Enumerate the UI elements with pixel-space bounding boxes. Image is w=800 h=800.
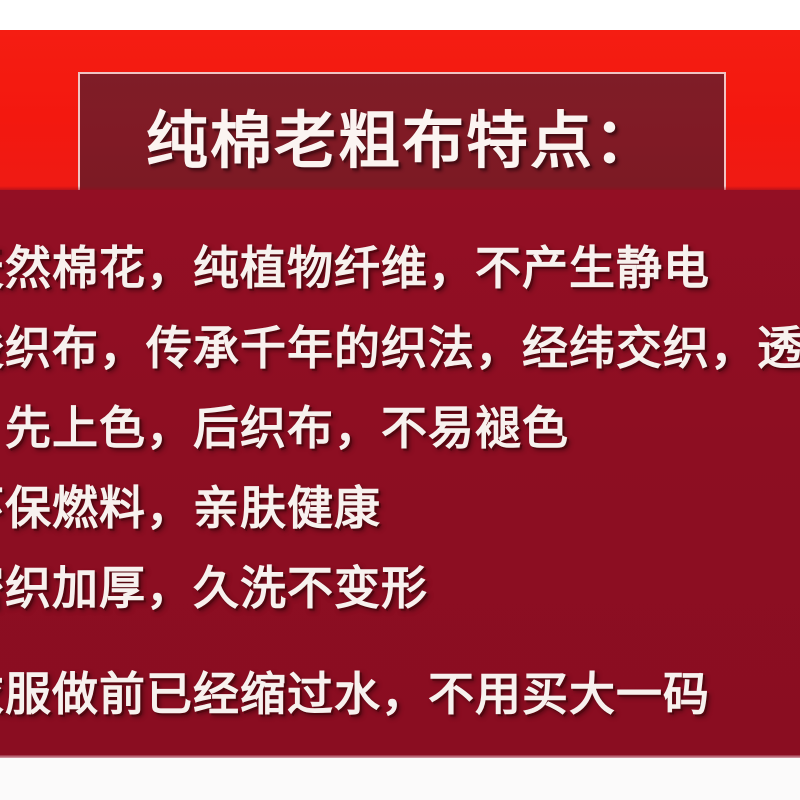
header-red-band: 纯棉老粗布特点： (0, 30, 800, 190)
bottom-white-margin (0, 758, 800, 800)
feature-line-5: 密织加厚，久洗不变形 (0, 548, 800, 628)
top-white-margin (0, 0, 800, 30)
feature-line-6: 衣服做前已经缩过水，不用买大一码 (0, 654, 800, 734)
feature-list: 天然棉花，纯植物纤维，不产生静电 梭织布，传承千年的织法，经纬交织，透 ：先上色… (0, 208, 800, 734)
feature-line-1: 天然棉花，纯植物纤维，不产生静电 (0, 228, 800, 308)
page-title: 纯棉老粗布特点： (146, 111, 658, 173)
product-detail-banner: 纯棉老粗布特点： 天然棉花，纯植物纤维，不产生静电 梭织布，传承千年的织法，经纬… (0, 0, 800, 800)
title-plaque: 纯棉老粗布特点： (78, 72, 726, 208)
feature-line-3: ：先上色，后织布，不易褪色 (0, 388, 800, 468)
features-panel: 天然棉花，纯植物纤维，不产生静电 梭织布，传承千年的织法，经纬交织，透 ：先上色… (0, 190, 800, 758)
feature-line-4: 环保燃料，亲肤健康 (0, 468, 800, 548)
feature-line-2: 梭织布，传承千年的织法，经纬交织，透 (0, 308, 800, 388)
